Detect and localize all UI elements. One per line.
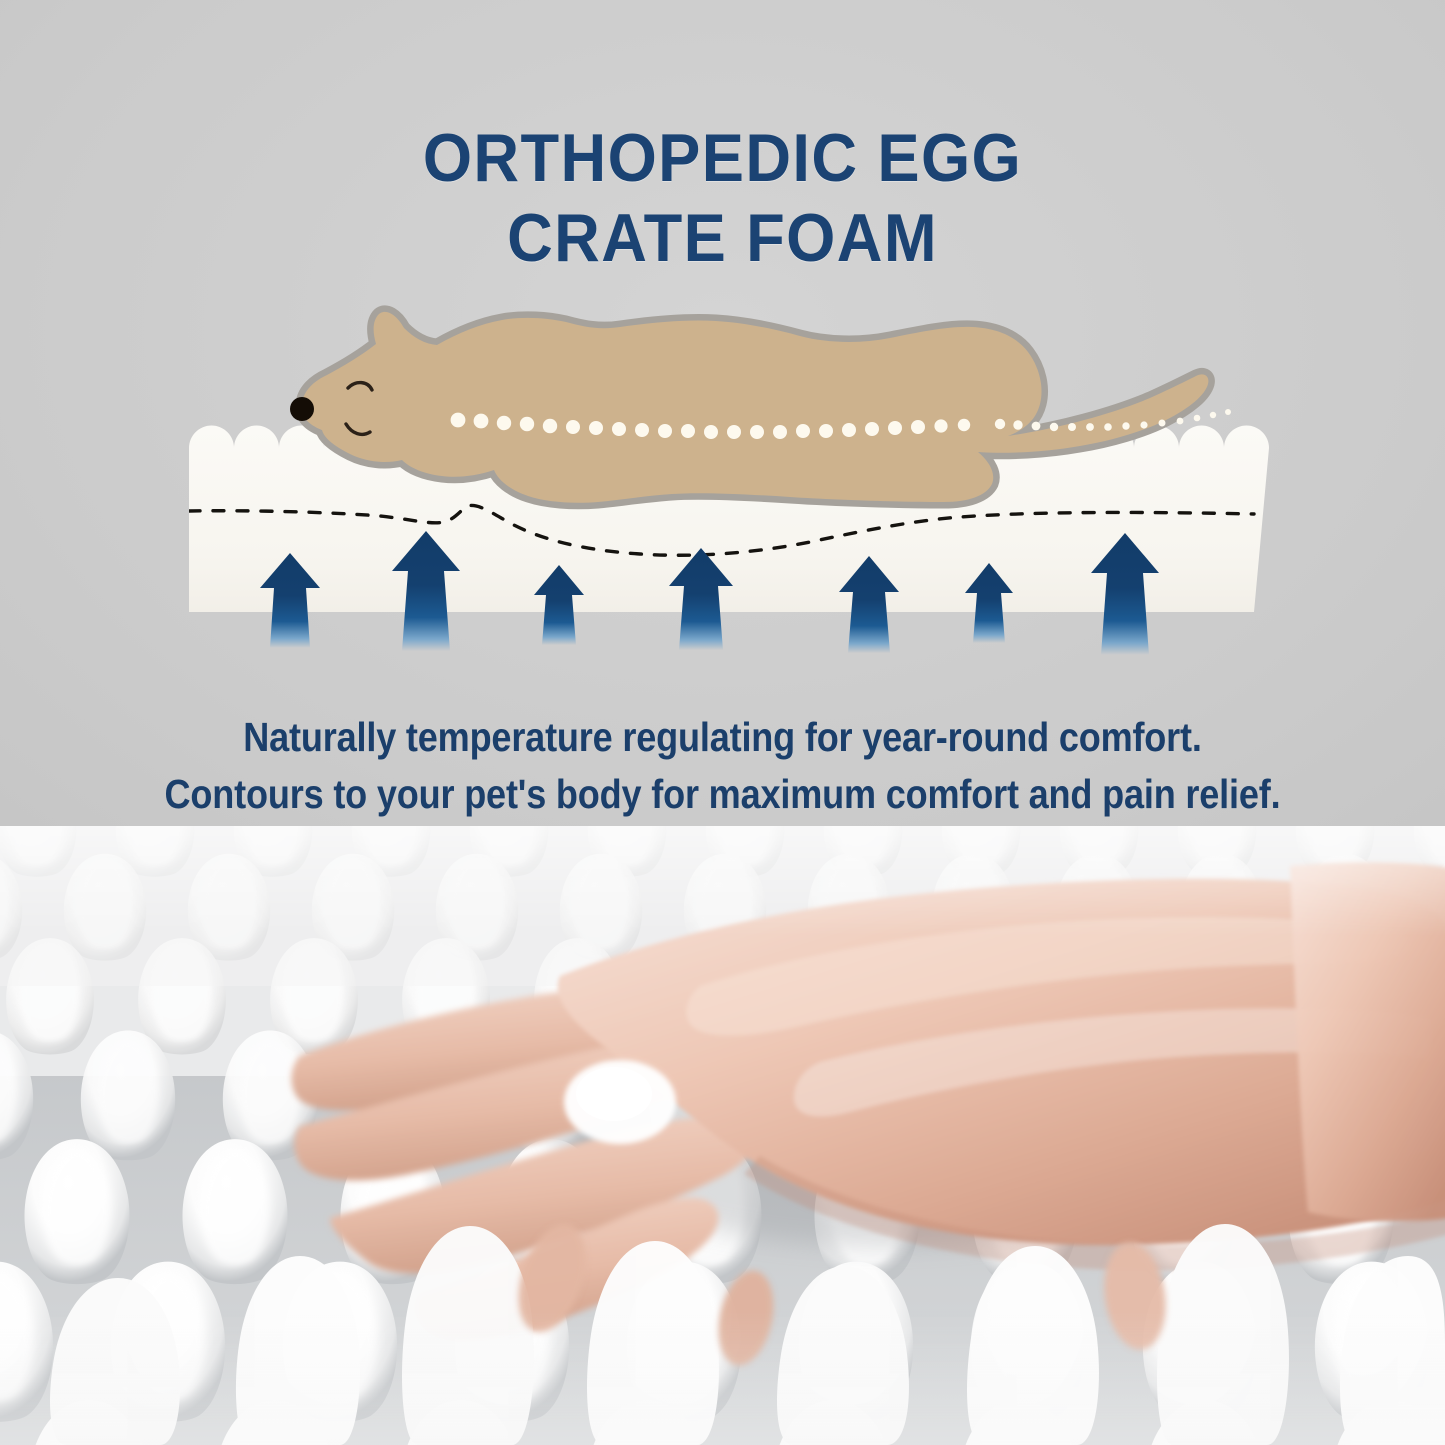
- foam-peak-between-fingers: [564, 1060, 676, 1144]
- foam-photo-panel: [0, 826, 1445, 1445]
- dog-nose: [290, 397, 314, 421]
- product-infographic: ORTHOPEDIC EGG CRATE FOAM: [0, 0, 1445, 1445]
- tagline-text: Naturally temperature regulating for yea…: [87, 709, 1359, 823]
- wrist: [1290, 862, 1445, 1221]
- infographic-panel: ORTHOPEDIC EGG CRATE FOAM: [0, 0, 1445, 826]
- dog-on-foam-illustration: [0, 0, 1445, 826]
- hand-pressing-foam: [0, 826, 1445, 1445]
